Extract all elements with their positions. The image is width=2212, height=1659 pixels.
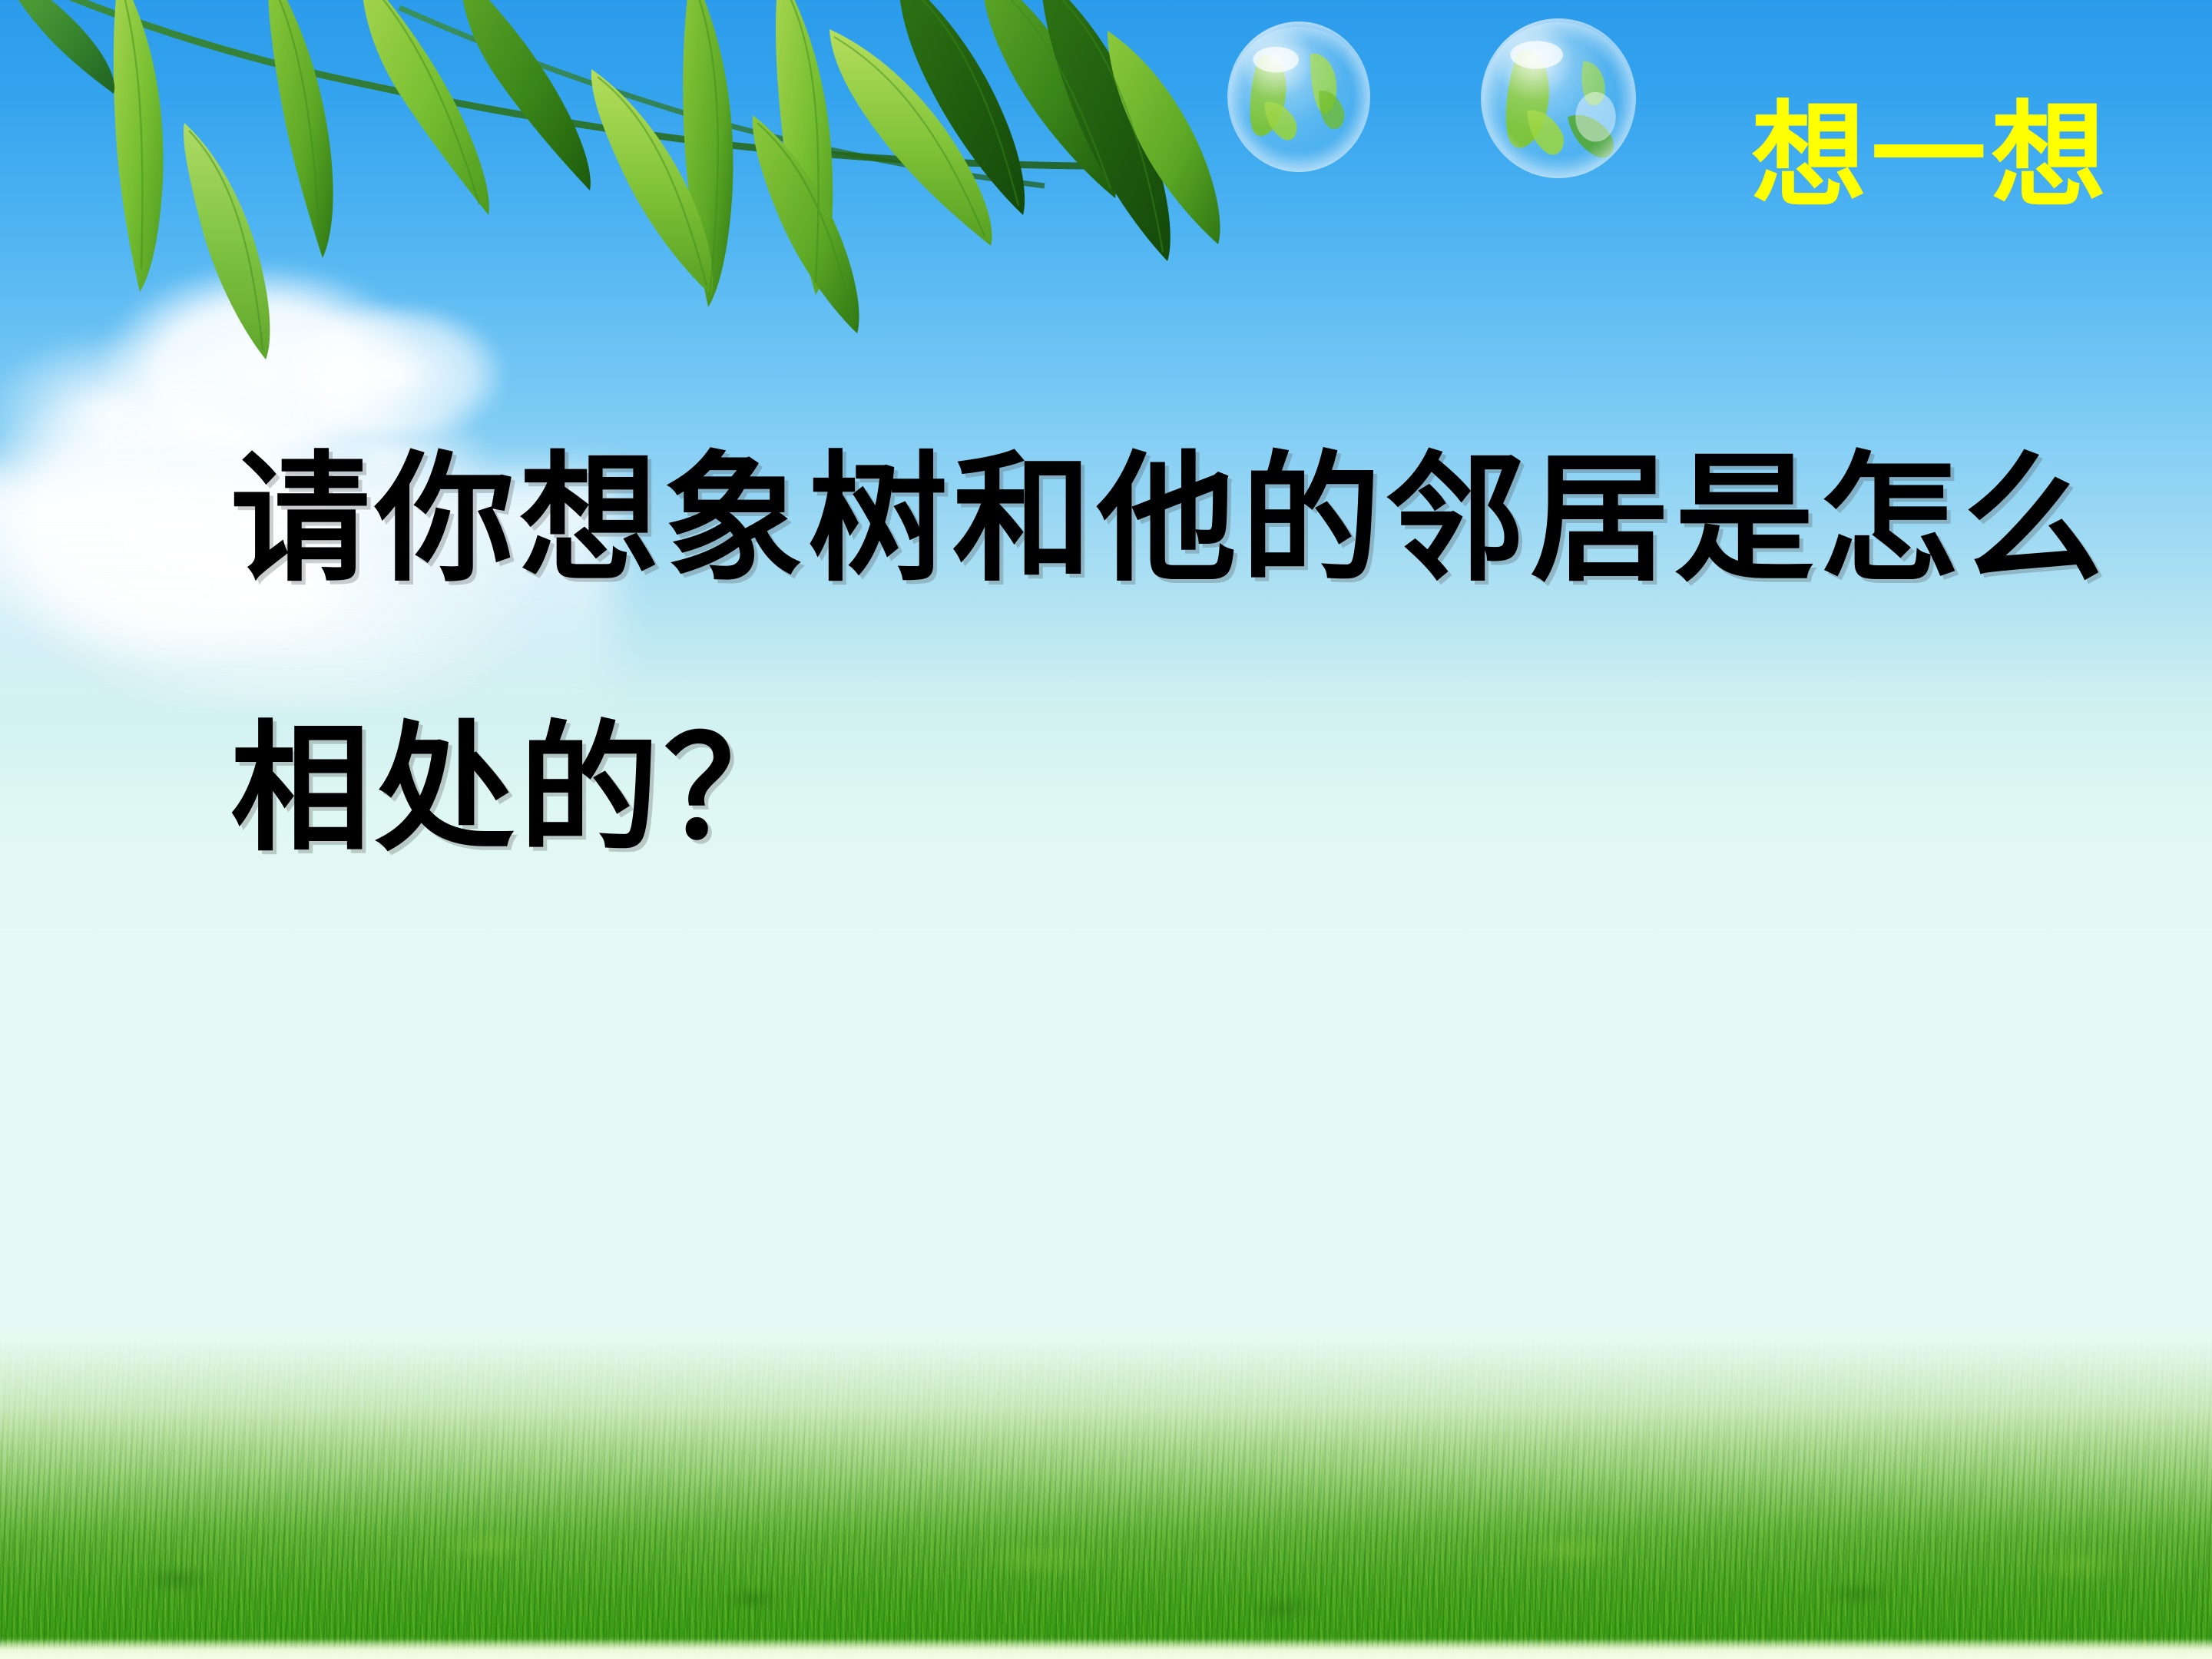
bubble-shell xyxy=(1481,18,1636,178)
question-line-2: 相处的？ xyxy=(230,654,2166,923)
slide-canvas: 想一想 请你想象树和他的邻居是怎么 相处的？ xyxy=(0,0,2212,1659)
earth-bubble-right-icon xyxy=(1481,18,1636,178)
bubble-continents xyxy=(1227,22,1370,172)
question-line-1: 请你想象树和他的邻居是怎么 xyxy=(230,384,2166,654)
think-banner-title: 想一想 xyxy=(1751,98,2111,214)
green-leaves-icon xyxy=(0,0,1306,399)
bubble-shell xyxy=(1227,22,1370,172)
bubble-continents xyxy=(1481,18,1636,178)
earth-bubble-left-icon xyxy=(1227,22,1370,172)
grass-mottle xyxy=(0,1402,2212,1648)
grass-bottom-highlight xyxy=(0,1639,2212,1659)
question-text-block: 请你想象树和他的邻居是怎么 相处的？ xyxy=(230,384,2166,924)
